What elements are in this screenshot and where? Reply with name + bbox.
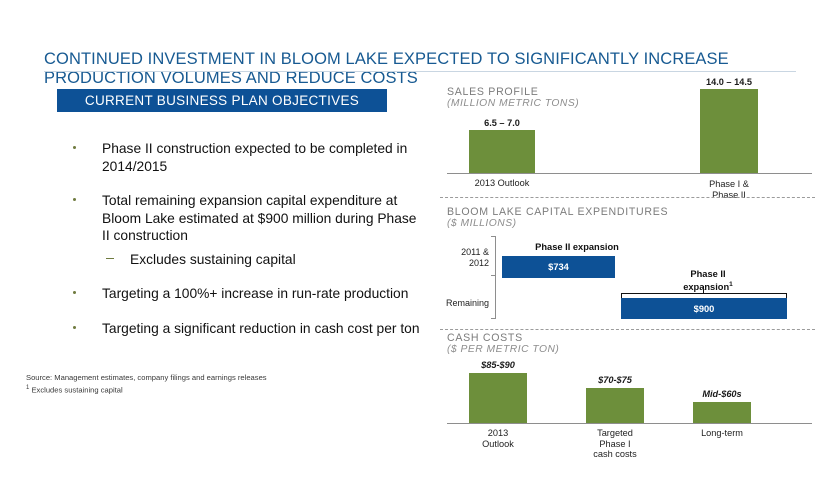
chart-title: CASH COSTS <box>447 332 559 344</box>
bullet-dot-icon <box>73 291 76 294</box>
bar-targeted-phase-i <box>586 388 644 423</box>
footnote-marker: 1 <box>26 385 29 391</box>
bar-value-label: $900 <box>694 304 715 314</box>
slide: CONTINUED INVESTMENT IN BLOOM LAKE EXPEC… <box>0 0 830 504</box>
chart-sales-profile: SALES PROFILE (MILLION METRIC TONS) 6.5 … <box>447 86 822 191</box>
bullet-dot-icon <box>73 198 76 201</box>
chart-title: BLOOM LAKE CAPITAL EXPENDITURES <box>447 206 668 218</box>
source-note: Source: Management estimates, company fi… <box>26 373 267 396</box>
source-line-1: Source: Management estimates, company fi… <box>26 373 267 383</box>
chart-header: BLOOM LAKE CAPITAL EXPENDITURES ($ MILLI… <box>447 206 668 230</box>
bar-value-label: 14.0 – 14.5 <box>687 77 771 87</box>
title-divider <box>44 71 796 72</box>
axis-tick <box>491 275 496 276</box>
bar-2011-2012: $734 <box>502 256 615 278</box>
bar-long-term <box>693 402 751 423</box>
chart-y-axis <box>495 236 496 318</box>
axis-tick <box>491 318 496 319</box>
list-item: Targeting a 100%+ increase in run-rate p… <box>70 285 420 303</box>
chart-cash-costs: CASH COSTS ($ PER METRIC TON) $85-$90 20… <box>447 332 822 477</box>
chart-header: SALES PROFILE (MILLION METRIC TONS) <box>447 86 579 110</box>
annotation-phase-ii-expansion-remaining: Phase IIexpansion1 <box>643 269 773 292</box>
bar-category-label: Long-term <box>685 428 759 439</box>
bullet-dot-icon <box>73 146 76 149</box>
list-item: Total remaining expansion capital expend… <box>70 192 420 245</box>
page-title: CONTINUED INVESTMENT IN BLOOM LAKE EXPEC… <box>44 50 796 88</box>
axis-category-label: Remaining <box>443 298 489 309</box>
bullet-list: Phase II construction expected to be com… <box>70 140 420 354</box>
bar-category-label: 2013Outlook <box>461 428 535 449</box>
axis-tick <box>491 236 496 237</box>
footnote-text: Excludes sustaining capital <box>31 386 122 395</box>
axis-category-label: 2011 &2012 <box>443 247 489 268</box>
bar-value-label: 6.5 – 7.0 <box>459 118 545 128</box>
chart-title: SALES PROFILE <box>447 86 579 98</box>
bullet-text: Targeting a significant reduction in cas… <box>102 320 420 338</box>
chart-bloom-lake-capex: BLOOM LAKE CAPITAL EXPENDITURES ($ MILLI… <box>447 206 822 324</box>
bar-2013-outlook <box>469 130 535 173</box>
bracket-stem-icon <box>703 286 704 294</box>
bullet-text: Phase II construction expected to be com… <box>102 140 420 175</box>
chart-subtitle: ($ MILLIONS) <box>447 218 668 230</box>
source-line-2: 1 Excludes sustaining capital <box>26 383 267 396</box>
title-line-1: CONTINUED INVESTMENT IN BLOOM LAKE EXPEC… <box>44 50 796 69</box>
annotation-phase-ii-expansion: Phase II expansion <box>499 242 655 253</box>
bar-phase-i-ii <box>700 89 758 173</box>
section-banner: CURRENT BUSINESS PLAN OBJECTIVES <box>57 89 387 112</box>
dash-icon <box>106 258 114 259</box>
section-divider <box>440 329 815 330</box>
bullet-dot-icon <box>73 326 76 329</box>
bar-category-label: 2013 Outlook <box>457 178 547 189</box>
bar-value-label: $85-$90 <box>457 360 539 370</box>
bar-value-label: $734 <box>548 262 569 272</box>
bar-value-label: $70-$75 <box>574 375 656 385</box>
bar-remaining: $900 <box>621 298 787 319</box>
section-divider <box>440 197 815 198</box>
chart-axis-line <box>447 173 812 174</box>
sub-list-item: Excludes sustaining capital <box>70 251 420 269</box>
chart-subtitle: (MILLION METRIC TONS) <box>447 98 579 110</box>
bullet-text: Total remaining expansion capital expend… <box>102 192 420 245</box>
bullet-text: Targeting a 100%+ increase in run-rate p… <box>102 285 420 303</box>
chart-header: CASH COSTS ($ PER METRIC TON) <box>447 332 559 356</box>
list-item: Targeting a significant reduction in cas… <box>70 320 420 338</box>
list-item: Phase II construction expected to be com… <box>70 140 420 175</box>
sub-bullet-text: Excludes sustaining capital <box>130 251 420 269</box>
section-banner-label: CURRENT BUSINESS PLAN OBJECTIVES <box>85 93 359 108</box>
bar-2013-outlook <box>469 373 527 423</box>
bar-category-label: TargetedPhase Icash costs <box>578 428 652 460</box>
chart-subtitle: ($ PER METRIC TON) <box>447 344 559 356</box>
bar-value-label: Mid-$60s <box>681 389 763 399</box>
chart-axis-line <box>447 423 812 424</box>
